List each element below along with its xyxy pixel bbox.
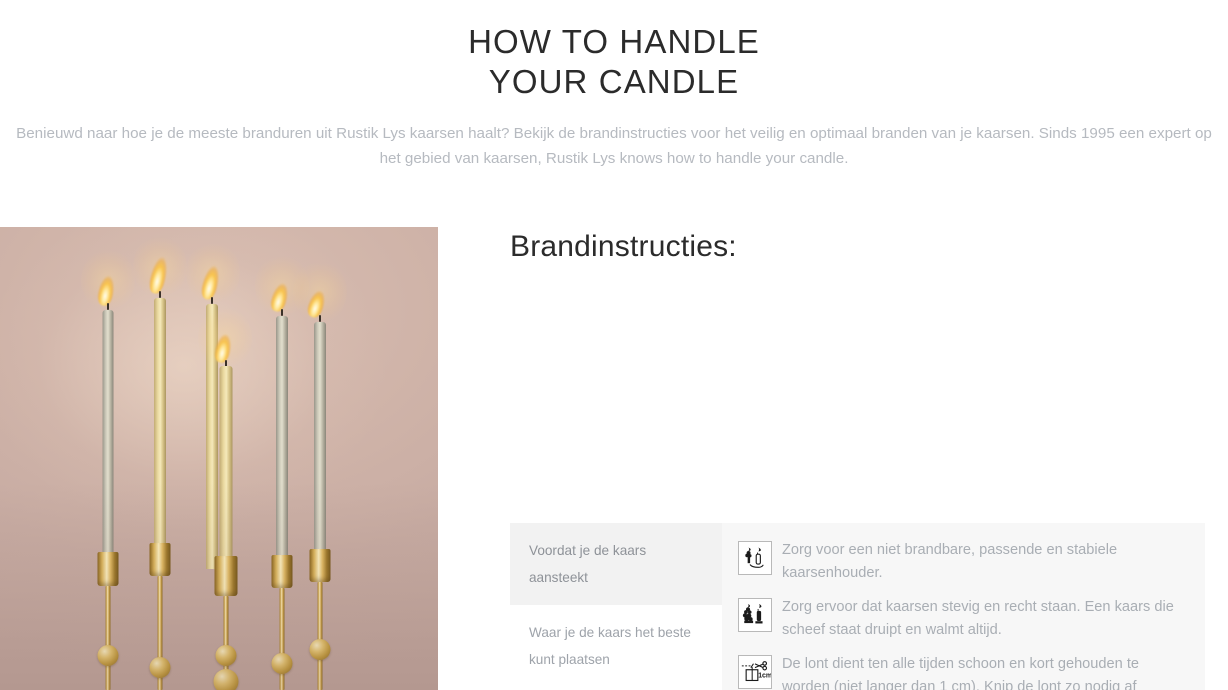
upright-candle-icon	[738, 598, 772, 632]
content-row: Brandinstructies: Voordat je de kaars aa…	[0, 227, 1228, 690]
instruction-text-3: De lont dient ten alle tijden schoon en …	[738, 656, 1172, 690]
page-title: HOW TO HANDLE YOUR CANDLE	[0, 22, 1228, 102]
accordion-tab-waar-je-de-kaars-het-beste-kunt-plaatsen[interactable]: Waar je de kaars het beste kunt plaatsen	[510, 605, 722, 687]
page-title-line-2: YOUR CANDLE	[0, 62, 1228, 102]
photo-bottom-shade	[0, 227, 438, 690]
accordion-tab-voordat-je-de-kaars-aansteekt[interactable]: Voordat je de kaars aansteekt	[510, 523, 722, 605]
accordion-tab-panel: Zorg voor een niet brandbare, passende e…	[722, 523, 1205, 690]
instructions-column: Brandinstructies:	[510, 227, 1205, 266]
instruction-text-2: Zorg ervoor dat kaarsen stevig en recht …	[782, 599, 1174, 638]
instruction-item-3: 1cm De lont dient ten alle tijden schoon…	[738, 653, 1181, 690]
accordion-tab-list: Voordat je de kaars aansteekt Waar je de…	[510, 523, 722, 690]
page-header: HOW TO HANDLE YOUR CANDLE Benieuwd naar …	[0, 0, 1228, 171]
page-subtitle: Benieuwd naar hoe je de meeste branduren…	[16, 121, 1212, 171]
instruction-text-1: Zorg voor een niet brandbare, passende e…	[782, 542, 1117, 581]
instructions-accordion: Voordat je de kaars aansteekt Waar je de…	[510, 523, 1205, 690]
candle-photo	[0, 227, 438, 690]
instruction-item-1: Zorg voor een niet brandbare, passende e…	[738, 539, 1181, 585]
instructions-heading: Brandinstructies:	[510, 227, 1205, 266]
candle-holder-icon	[738, 541, 772, 575]
wick-length-label: 1cm	[758, 672, 771, 679]
trim-wick-1cm-icon: 1cm	[738, 655, 772, 689]
instruction-item-2: Zorg ervoor dat kaarsen stevig en recht …	[738, 596, 1181, 642]
page-title-line-1: HOW TO HANDLE	[0, 22, 1228, 62]
page-root: HOW TO HANDLE YOUR CANDLE Benieuwd naar …	[0, 0, 1228, 690]
